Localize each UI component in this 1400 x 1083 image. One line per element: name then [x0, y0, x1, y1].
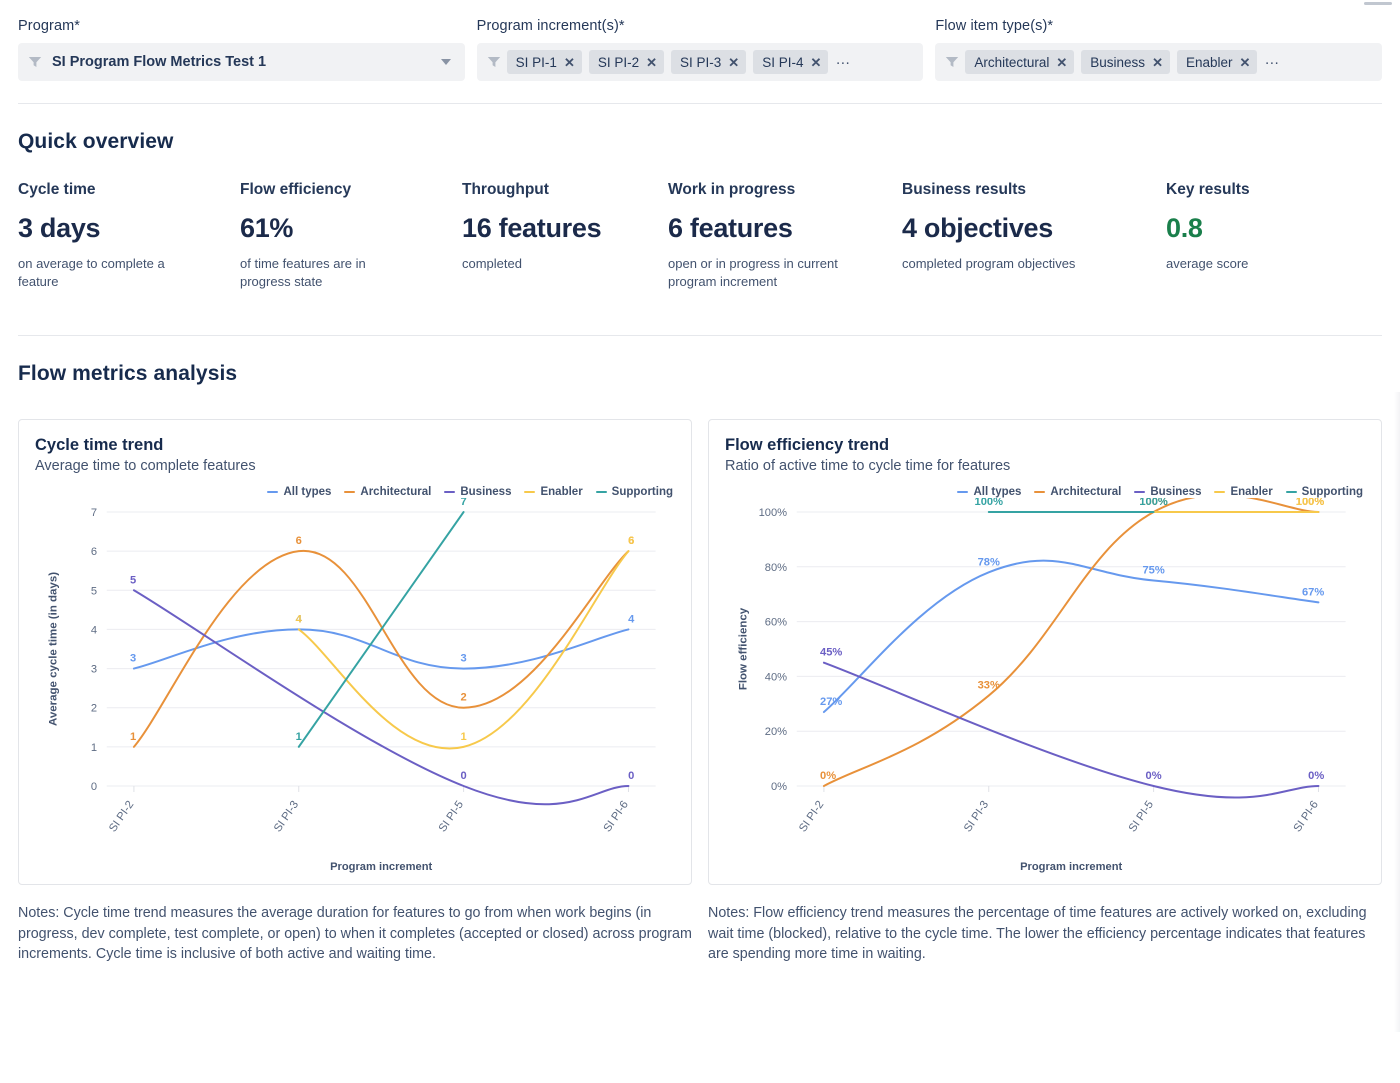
quick-overview-title: Quick overview	[18, 130, 1382, 154]
filter-program-increments-label: Program increment(s)*	[477, 18, 924, 34]
stat-label: Throughput	[462, 181, 668, 199]
data-point-label: 0%	[820, 770, 836, 782]
data-point-label: 4	[628, 613, 635, 625]
quick-overview-section: Quick overview Cycle time 3 days on aver…	[0, 104, 1400, 291]
y-axis-title: Flow efficiency	[737, 607, 749, 690]
charts-row: Cycle time trend Average time to complet…	[18, 419, 1382, 885]
quick-overview-stats: Cycle time 3 days on average to complete…	[18, 181, 1382, 291]
stat-label: Work in progress	[668, 181, 902, 199]
stat-sub: completed program objectives	[902, 255, 1166, 273]
x-axis-tick-label: SI PI-3	[962, 799, 991, 835]
filter-program-label: Program*	[18, 18, 465, 34]
stat-value: 6 features	[668, 213, 902, 244]
chart-subtitle: Ratio of active time to cycle time for f…	[725, 458, 1365, 474]
filter-funnel-icon	[945, 56, 959, 68]
stat-work-in-progress: Work in progress 6 features open or in p…	[668, 181, 902, 291]
flow-metrics-analysis-title: Flow metrics analysis	[18, 362, 1382, 386]
data-point-label: 3	[461, 652, 467, 664]
x-axis-tick-label: SI PI-6	[1292, 799, 1321, 835]
stat-flow-efficiency: Flow efficiency 61% of time features are…	[240, 181, 462, 291]
y-axis-tick-label: 60%	[765, 616, 787, 628]
legend-label: Business	[1150, 486, 1201, 498]
legend-item-supporting[interactable]: Supporting	[1286, 486, 1363, 498]
chart-title: Flow efficiency trend	[725, 436, 1365, 455]
legend-label: Enabler	[1230, 486, 1272, 498]
scrollbar-thumb[interactable]	[1364, 2, 1392, 5]
legend-item-business[interactable]: Business	[1134, 486, 1201, 498]
stat-value: 3 days	[18, 213, 240, 244]
card-cycle-time-trend: Cycle time trend Average time to complet…	[18, 419, 692, 885]
series-line-business[interactable]	[824, 663, 1319, 798]
chip[interactable]: Enabler✕	[1177, 50, 1257, 74]
stat-cycle-time: Cycle time 3 days on average to complete…	[18, 181, 240, 291]
data-point-label: 78%	[978, 556, 1000, 568]
stat-sub: on average to complete a feature	[18, 255, 198, 291]
data-point-label: 7	[461, 498, 467, 508]
legend-label: Architectural	[1050, 486, 1121, 498]
stat-value: 0.8	[1166, 213, 1250, 244]
y-axis-tick-label: 5	[91, 585, 97, 597]
y-axis-tick-label: 0	[91, 781, 97, 793]
chart-subtitle: Average time to complete features	[35, 458, 675, 474]
chip[interactable]: SI PI-4✕	[753, 50, 828, 74]
x-axis-tick-label: SI PI-6	[602, 799, 631, 835]
notes-flow-efficiency: Notes: Flow efficiency trend measures th…	[708, 903, 1382, 965]
stat-label: Key results	[1166, 181, 1250, 199]
legend-line-icon	[957, 491, 968, 493]
stat-label: Flow efficiency	[240, 181, 462, 199]
data-point-label: 100%	[1139, 498, 1167, 508]
legend-item-enabler[interactable]: Enabler	[524, 486, 582, 498]
data-point-label: 0	[461, 770, 467, 782]
stat-sub: completed	[462, 255, 668, 273]
stat-sub: open or in progress in current program i…	[668, 255, 854, 291]
stat-throughput: Throughput 16 features completed	[462, 181, 668, 291]
series-line-enabler[interactable]	[299, 551, 629, 748]
stat-value: 4 objectives	[902, 213, 1166, 244]
legend-item-all-types[interactable]: All types	[267, 486, 331, 498]
x-axis-tick-label: SI PI-2	[107, 799, 136, 835]
y-axis-tick-label: 7	[91, 507, 97, 519]
notes-text: Notes: Flow efficiency trend measures th…	[708, 903, 1382, 965]
filter-funnel-icon	[487, 56, 501, 68]
stat-value: 61%	[240, 213, 462, 244]
chip[interactable]: Architectural✕	[965, 50, 1074, 74]
chip-remove-icon[interactable]: ✕	[1240, 56, 1251, 69]
data-point-label: 4	[296, 613, 303, 625]
legend-line-icon	[1286, 491, 1297, 493]
x-axis-tick-label: SI PI-5	[1127, 799, 1156, 835]
stat-label: Business results	[902, 181, 1166, 199]
card-flow-efficiency-trend: Flow efficiency trend Ratio of active ti…	[708, 419, 1382, 885]
chips-overflow-indicator[interactable]: …	[1264, 51, 1280, 73]
program-select[interactable]: SI Program Flow Metrics Test 1	[18, 43, 465, 81]
legend-line-icon	[596, 491, 607, 493]
series-line-architectural[interactable]	[824, 498, 1319, 786]
chip-remove-icon[interactable]: ✕	[810, 56, 821, 69]
data-point-label: 100%	[1296, 498, 1324, 508]
legend-label: Business	[460, 486, 511, 498]
filter-flow-item-types-label: Flow item type(s)*	[935, 18, 1382, 34]
stat-sub: of time features are in progress state	[240, 255, 400, 291]
series-line-business[interactable]	[134, 590, 629, 804]
stat-sub: average score	[1166, 255, 1250, 273]
legend-label: Architectural	[360, 486, 431, 498]
legend-line-icon	[444, 491, 455, 493]
legend-item-architectural[interactable]: Architectural	[344, 486, 431, 498]
legend-line-icon	[344, 491, 355, 493]
data-point-label: 27%	[820, 696, 842, 708]
data-point-label: 2	[461, 691, 467, 703]
stat-key-results: Key results 0.8 average score	[1166, 181, 1250, 291]
legend-label: All types	[283, 486, 331, 498]
legend-label: Supporting	[1302, 486, 1363, 498]
chip-remove-icon[interactable]: ✕	[728, 56, 739, 69]
stat-business-results: Business results 4 objectives completed …	[902, 181, 1166, 291]
legend-label: All types	[973, 486, 1021, 498]
chip[interactable]: Business✕	[1081, 50, 1170, 74]
program-select-value: SI Program Flow Metrics Test 1	[48, 54, 435, 70]
data-point-label: 0%	[1308, 770, 1324, 782]
y-axis-tick-label: 2	[91, 702, 97, 714]
series-line-all-types[interactable]	[824, 561, 1319, 712]
chevron-down-icon[interactable]	[441, 59, 451, 65]
chart-title: Cycle time trend	[35, 436, 675, 455]
notes-cycle-time: Notes: Cycle time trend measures the ave…	[18, 903, 692, 965]
y-axis-tick-label: 4	[91, 624, 97, 636]
flow-metrics-analysis-section: Flow metrics analysis Cycle time trend A…	[0, 336, 1400, 885]
filter-program: Program* SI Program Flow Metrics Test 1	[18, 18, 465, 81]
chip-label: SI PI-3	[680, 55, 721, 70]
chip-label: Architectural	[974, 55, 1049, 70]
notes-text: Notes: Cycle time trend measures the ave…	[18, 903, 692, 965]
y-axis-tick-label: 100%	[759, 507, 787, 519]
chips-overflow-indicator[interactable]: …	[835, 51, 851, 73]
data-point-label: 5	[130, 574, 136, 586]
data-point-label: 67%	[1302, 586, 1324, 598]
chip-label: Enabler	[1186, 55, 1233, 70]
chart-legend: All types Architectural Business Enabler…	[35, 486, 675, 498]
legend-label: Enabler	[540, 486, 582, 498]
y-axis-tick-label: 1	[91, 742, 97, 754]
chip[interactable]: SI PI-1✕	[507, 50, 582, 74]
chart-cycle-time-trend[interactable]: 01234567Average cycle time (in days)SI P…	[35, 498, 675, 874]
data-point-label: 6	[628, 535, 634, 547]
x-axis-tick-label: SI PI-2	[797, 799, 826, 835]
stat-value: 16 features	[462, 213, 668, 244]
stat-label: Cycle time	[18, 181, 240, 199]
chip-label: Business	[1090, 55, 1145, 70]
chip-remove-icon[interactable]: ✕	[564, 56, 575, 69]
data-point-label: 0%	[1146, 770, 1162, 782]
data-point-label: 6	[296, 535, 302, 547]
data-point-label: 3	[130, 652, 136, 664]
filter-funnel-icon	[28, 56, 42, 68]
chip-label: SI PI-4	[762, 55, 803, 70]
x-axis-title: Program increment	[330, 861, 432, 873]
data-point-label: 33%	[978, 679, 1000, 691]
chip[interactable]: SI PI-3✕	[671, 50, 746, 74]
data-point-label: 75%	[1142, 564, 1164, 576]
y-axis-tick-label: 3	[91, 663, 97, 675]
chart-flow-efficiency-trend[interactable]: 0%20%40%60%80%100%Flow efficiencySI PI-2…	[725, 498, 1365, 874]
legend-line-icon	[1034, 491, 1045, 493]
x-axis-tick-label: SI PI-5	[437, 799, 466, 835]
data-point-label: 1	[296, 731, 302, 743]
data-point-label: 1	[130, 731, 136, 743]
y-axis-tick-label: 0%	[771, 781, 787, 793]
data-point-label: 0	[628, 770, 634, 782]
filter-program-increments: Program increment(s)* SI PI-1✕ SI PI-2✕ …	[477, 18, 924, 81]
filter-bar: Program* SI Program Flow Metrics Test 1 …	[0, 0, 1400, 81]
legend-line-icon	[1214, 491, 1225, 493]
notes-row: Notes: Cycle time trend measures the ave…	[0, 885, 1400, 965]
program-increments-select[interactable]: SI PI-1✕ SI PI-2✕ SI PI-3✕ SI PI-4✕ …	[477, 43, 924, 81]
legend-item-architectural[interactable]: Architectural	[1034, 486, 1121, 498]
chart-legend: All types Architectural Business Enabler…	[725, 486, 1365, 498]
chip-remove-icon[interactable]: ✕	[1056, 56, 1067, 69]
chip-label: SI PI-2	[598, 55, 639, 70]
chip-remove-icon[interactable]: ✕	[646, 56, 657, 69]
legend-line-icon	[524, 491, 535, 493]
legend-label: Supporting	[612, 486, 673, 498]
data-point-label: 45%	[820, 646, 842, 658]
legend-item-business[interactable]: Business	[444, 486, 511, 498]
chip-remove-icon[interactable]: ✕	[1152, 56, 1163, 69]
legend-line-icon	[267, 491, 278, 493]
data-point-label: 100%	[975, 498, 1003, 508]
y-axis-title: Average cycle time (in days)	[47, 572, 59, 726]
flow-item-types-select[interactable]: Architectural✕ Business✕ Enabler✕ …	[935, 43, 1382, 81]
data-point-label: 1	[461, 731, 467, 743]
flow-metrics-dashboard: Program* SI Program Flow Metrics Test 1 …	[0, 0, 1400, 1083]
flow-item-type-chips: Architectural✕ Business✕ Enabler✕ …	[965, 50, 1372, 74]
x-axis-title: Program increment	[1020, 861, 1122, 873]
chip[interactable]: SI PI-2✕	[589, 50, 664, 74]
y-axis-tick-label: 40%	[765, 671, 787, 683]
legend-item-supporting[interactable]: Supporting	[596, 486, 673, 498]
legend-item-all-types[interactable]: All types	[957, 486, 1021, 498]
y-axis-tick-label: 80%	[765, 562, 787, 574]
y-axis-tick-label: 6	[91, 546, 97, 558]
legend-line-icon	[1134, 491, 1145, 493]
legend-item-enabler[interactable]: Enabler	[1214, 486, 1272, 498]
filter-flow-item-types: Flow item type(s)* Architectural✕ Busine…	[935, 18, 1382, 81]
chip-label: SI PI-1	[516, 55, 557, 70]
y-axis-tick-label: 20%	[765, 726, 787, 738]
program-increment-chips: SI PI-1✕ SI PI-2✕ SI PI-3✕ SI PI-4✕ …	[507, 50, 914, 74]
x-axis-tick-label: SI PI-3	[272, 799, 301, 835]
